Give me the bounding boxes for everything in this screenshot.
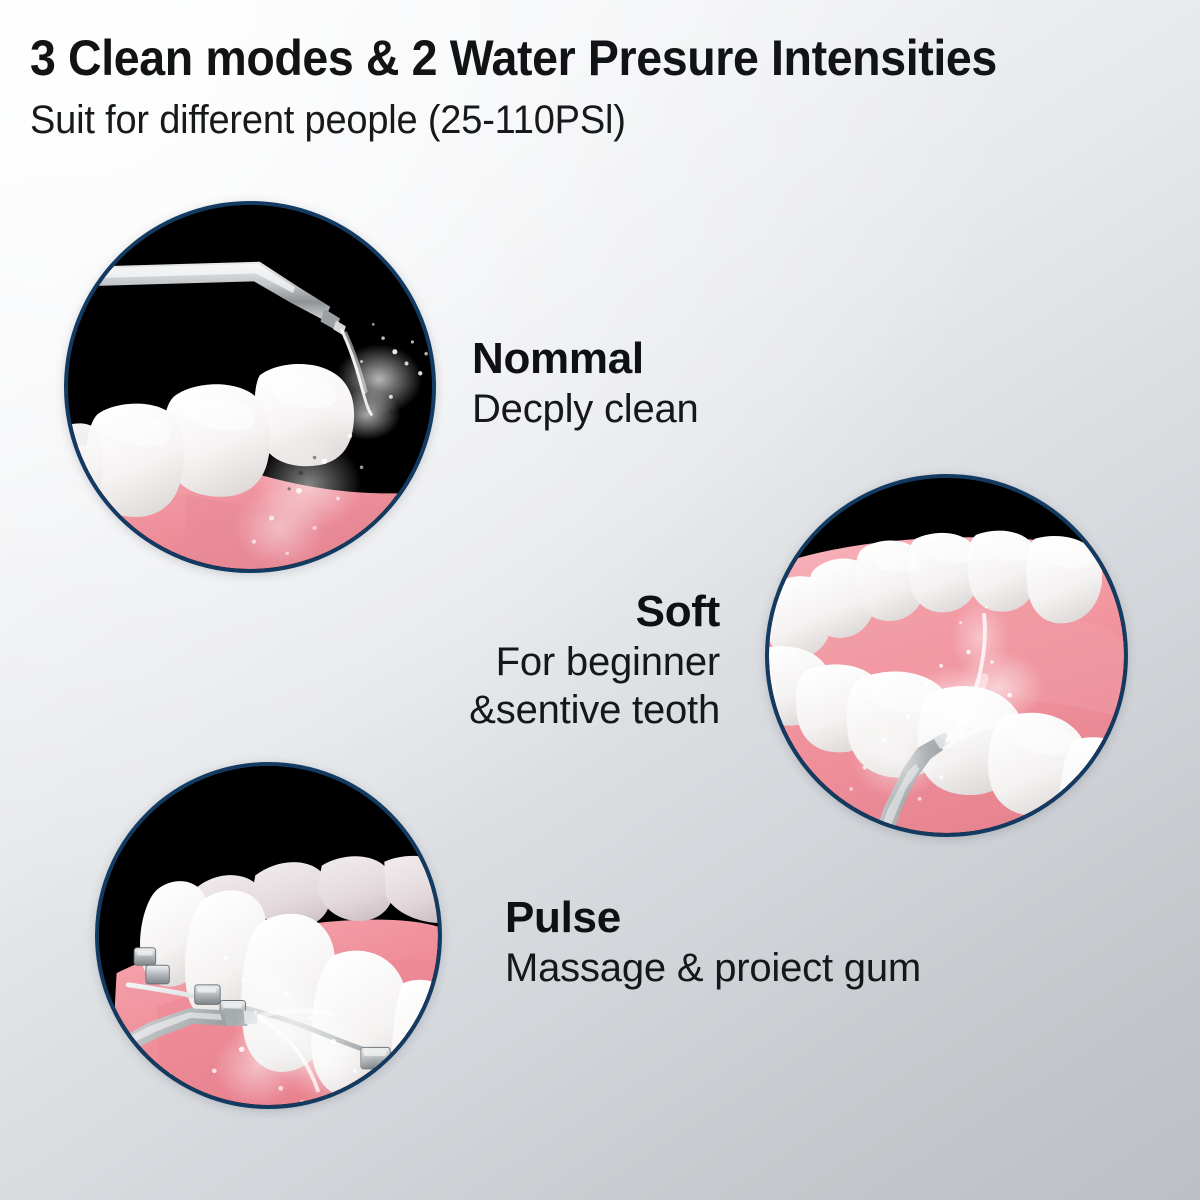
mode-title-pulse: Pulse [505, 892, 921, 944]
illustration-soft-mode [769, 478, 1124, 833]
illustration-pulse-mode [99, 766, 438, 1105]
mode-description-soft-line-1: For beginner [420, 638, 720, 686]
page-title: 3 Clean modes & 2 Water Presure Intensit… [30, 28, 1090, 88]
mode-image-soft [765, 474, 1128, 837]
mode-title-soft: Soft [420, 586, 720, 638]
mode-image-pulse [95, 762, 442, 1109]
mode-label-normal: Nommal Decply clean [472, 333, 699, 433]
heading-group: 3 Clean modes & 2 Water Presure Intensit… [30, 28, 1170, 146]
mode-image-normal [64, 201, 436, 573]
mode-description-normal: Decply clean [472, 385, 699, 433]
mode-description-soft-line-2: &sentive teoth [420, 686, 720, 734]
mode-description-pulse: Massage & proiect gum [505, 944, 921, 992]
page-subtitle: Suit for different people (25-110PSl) [30, 94, 1113, 146]
product-feature-poster: 3 Clean modes & 2 Water Presure Intensit… [0, 0, 1200, 1200]
illustration-normal-mode [68, 205, 432, 569]
mode-title-normal: Nommal [472, 333, 699, 385]
mode-label-pulse: Pulse Massage & proiect gum [505, 892, 921, 992]
mode-label-soft: Soft For beginner &sentive teoth [420, 586, 720, 734]
